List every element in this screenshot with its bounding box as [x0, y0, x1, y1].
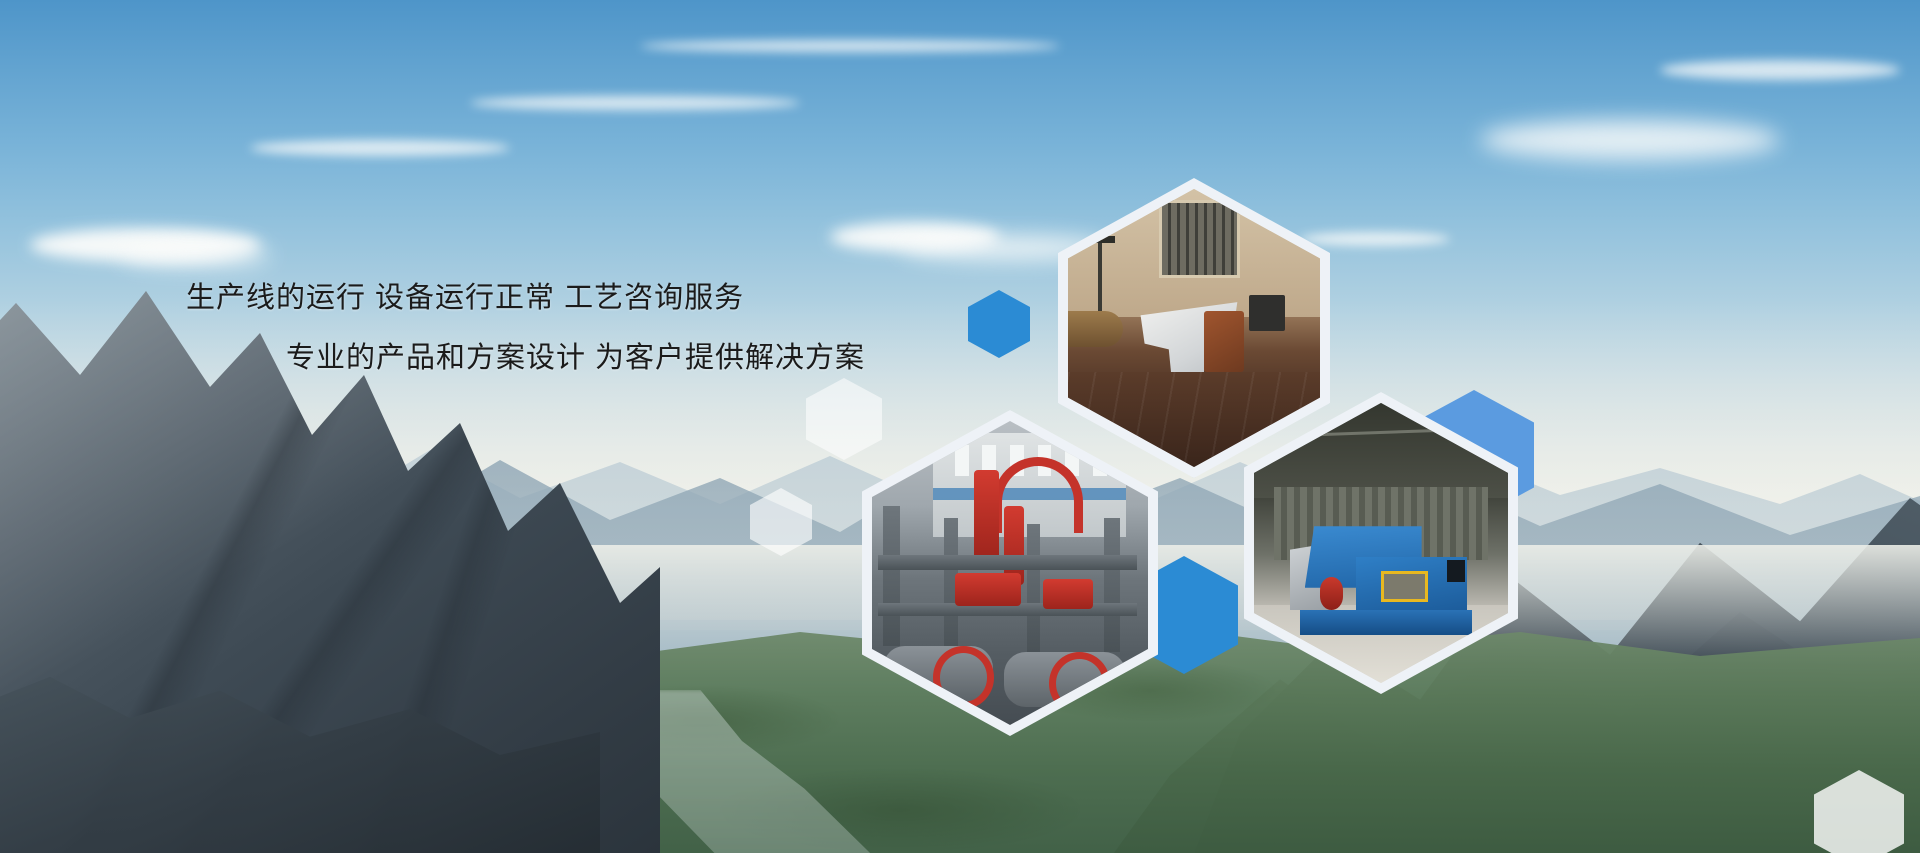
crate: [1249, 295, 1284, 331]
steel-frame: [1027, 524, 1041, 652]
headline-line-1: 生产线的运行 设备运行正常 工艺咨询服务: [186, 268, 946, 328]
rust-pipe: [1068, 311, 1123, 347]
steel-frame: [1104, 518, 1121, 652]
control-window: [1447, 560, 1465, 582]
machine-detail: [1204, 311, 1244, 372]
blue-machine-base: [1300, 610, 1473, 635]
cloud-icon: [120, 244, 270, 266]
steel-beam: [878, 555, 1137, 570]
headline-line-2: 专业的产品和方案设计 为客户提供解决方案: [186, 328, 946, 388]
hero-banner: 生产线的运行 设备运行正常 工艺咨询服务 专业的产品和方案设计 为客户提供解决方…: [0, 0, 1920, 853]
red-motor: [1320, 577, 1343, 611]
red-tank: [974, 470, 999, 561]
cloud-icon: [250, 140, 510, 156]
banner-headline: 生产线的运行 设备运行正常 工艺咨询服务 专业的产品和方案设计 为客户提供解决方…: [186, 268, 946, 388]
window-grid-icon: [1159, 200, 1241, 278]
steel-frame: [883, 506, 900, 646]
cloud-icon: [470, 96, 800, 110]
cloud-icon: [1300, 232, 1450, 246]
red-panel: [955, 573, 1021, 606]
yellow-guard: [1381, 571, 1428, 602]
cloud-icon: [640, 40, 1060, 52]
cloud-icon: [1480, 120, 1780, 160]
cloud-icon: [1660, 60, 1900, 80]
red-panel: [1043, 579, 1093, 609]
